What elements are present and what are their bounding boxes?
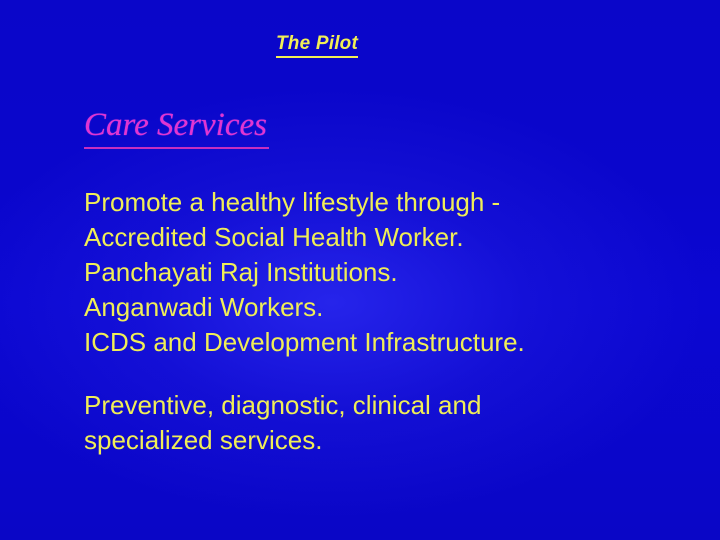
body-line: Accredited Social Health Worker. [84, 220, 684, 255]
body-block-preventive: Preventive, diagnostic, clinical and spe… [84, 388, 684, 458]
body-line: specialized services. [84, 423, 684, 458]
slide-header-label: The Pilot [276, 33, 358, 58]
presentation-slide: The Pilot Care Services Promote a health… [0, 0, 720, 540]
slide-title: Care Services [84, 108, 269, 149]
slide-title-label: Care Services [84, 108, 269, 149]
body-line: Panchayati Raj Institutions. [84, 255, 684, 290]
body-line: ICDS and Development Infrastructure. [84, 325, 684, 360]
slide-header: The Pilot [0, 33, 720, 58]
body-line: Preventive, diagnostic, clinical and [84, 388, 684, 423]
body-line: Anganwadi Workers. [84, 290, 684, 325]
body-line: Promote a healthy lifestyle through - [84, 185, 684, 220]
body-block-promote: Promote a healthy lifestyle through - Ac… [84, 185, 684, 360]
